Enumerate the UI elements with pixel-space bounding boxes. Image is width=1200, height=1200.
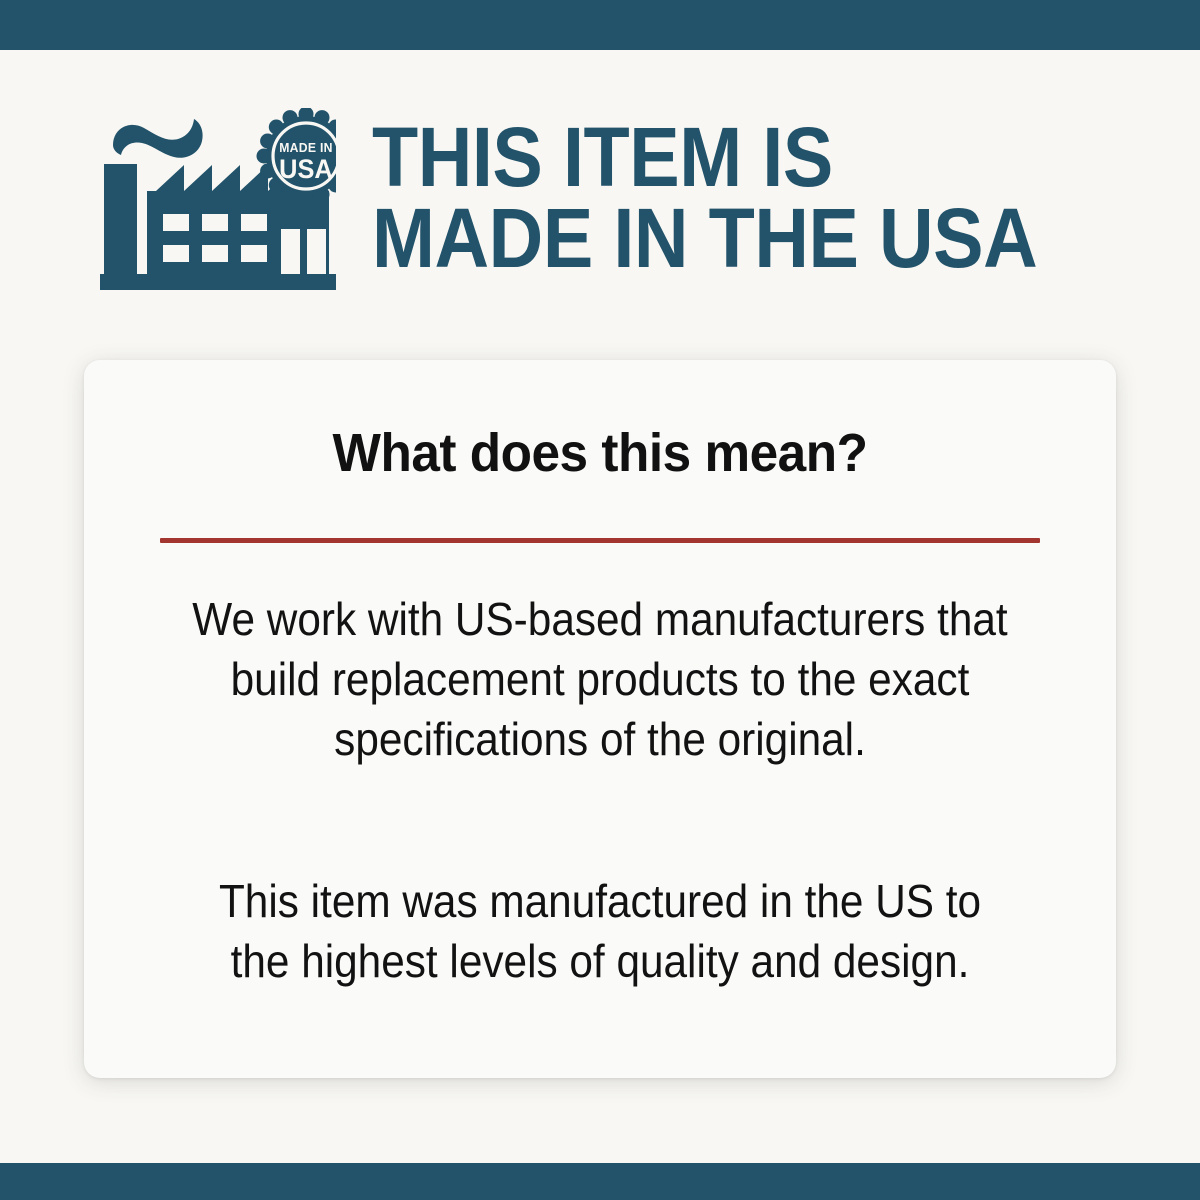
page-title: THIS ITEM IS MADE IN THE USA: [372, 117, 1037, 278]
factory-with-made-in-usa-seal-icon: MADE IN USA: [100, 108, 336, 293]
card-paragraph-1: We work with US-based manufacturers that…: [190, 590, 1011, 769]
card-paragraph-2: This item was manufactured in the US to …: [190, 872, 1011, 992]
header: MADE IN USA THIS ITEM IS MADE IN THE USA: [0, 50, 1200, 346]
red-divider: [160, 538, 1040, 543]
svg-text:USA: USA: [279, 153, 333, 184]
info-card: What does this mean? We work with US-bas…: [84, 360, 1116, 1078]
card-heading: What does this mean?: [110, 422, 1090, 484]
bottom-color-band: [0, 1163, 1200, 1200]
top-color-band: [0, 0, 1200, 50]
